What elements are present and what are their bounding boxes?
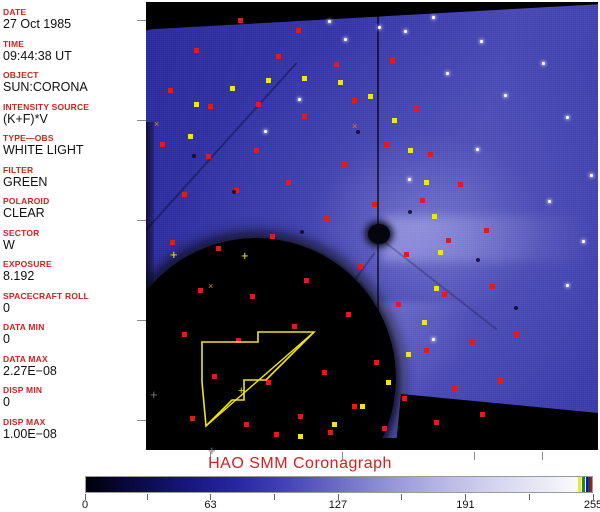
axis-tick-left xyxy=(137,20,146,21)
metadata-field: FILTERGREEN xyxy=(3,165,145,189)
metadata-field: TIME09:44:38 UT xyxy=(3,39,145,63)
metadata-field: DATE27 Oct 1985 xyxy=(3,7,145,31)
metadata-value: 0 xyxy=(3,395,145,409)
colorbar-tick-label: 0 xyxy=(82,499,88,511)
metadata-value: 09:44:38 UT xyxy=(3,49,145,63)
metadata-value: SUN:CORONA xyxy=(3,80,145,94)
colorbar-yellow-band xyxy=(578,477,582,492)
metadata-field: DATA MIN0 xyxy=(3,322,145,346)
metadata-field: DATA MAX2.27E−08 xyxy=(3,354,145,378)
colorbar-green-band xyxy=(582,477,585,492)
metadata-key: SECTOR xyxy=(3,228,145,238)
metadata-key: TYPE—OBS xyxy=(3,133,145,143)
colorbar-tick-label: 127 xyxy=(329,499,347,511)
metadata-key: DISP MIN xyxy=(3,385,145,395)
metadata-value: 1.00E−08 xyxy=(3,427,145,441)
colorbar[interactable] xyxy=(85,476,593,493)
metadata-field: INTENSITY SOURCE(K+F)*V xyxy=(3,102,145,126)
metadata-value: GREEN xyxy=(3,175,145,189)
colorbar-gradient xyxy=(86,477,592,492)
metadata-key: TIME xyxy=(3,39,145,49)
colorbar-red-band xyxy=(590,477,592,492)
colorbar-tick-label: 255 xyxy=(584,499,600,511)
metadata-sidebar: DATE27 Oct 1985TIME09:44:38 UTOBJECTSUN:… xyxy=(0,0,145,452)
metadata-key: INTENSITY SOURCE xyxy=(3,102,145,112)
coronagraph-viewer: DATE27 Oct 1985TIME09:44:38 UTOBJECTSUN:… xyxy=(0,0,600,512)
metadata-key: DATA MIN xyxy=(3,322,145,332)
metadata-key: DISP MAX xyxy=(3,417,145,427)
metadata-field: SECTORW xyxy=(3,228,145,252)
metadata-value: (K+F)*V xyxy=(3,112,145,126)
metadata-key: OBJECT xyxy=(3,70,145,80)
crosshair-marker: + xyxy=(150,388,158,401)
metadata-value: 0 xyxy=(3,332,145,346)
axis-tick-left xyxy=(137,120,146,121)
colorbar-title: HAO SMM Coronagraph xyxy=(0,455,600,473)
metadata-field: SPACECRAFT ROLL0 xyxy=(3,291,145,315)
colorbar-tick-label: 63 xyxy=(204,499,216,511)
metadata-value: 0 xyxy=(3,301,145,315)
metadata-key: EXPOSURE xyxy=(3,259,145,269)
axis-tick-left xyxy=(137,420,146,421)
coronagraph-image[interactable]: ×××++ + xyxy=(146,2,598,450)
metadata-field: DISP MIN0 xyxy=(3,385,145,409)
axis-tick-left xyxy=(137,220,146,221)
metadata-key: DATA MAX xyxy=(3,354,145,364)
overlay-polygon: + xyxy=(146,2,598,450)
svg-text:+: + xyxy=(238,385,244,397)
metadata-field: EXPOSURE8.192 xyxy=(3,259,145,283)
colorbar-tick-label: 191 xyxy=(456,499,474,511)
metadata-value: 8.192 xyxy=(3,269,145,283)
metadata-field: DISP MAX1.00E−08 xyxy=(3,417,145,441)
metadata-key: POLAROID xyxy=(3,196,145,206)
metadata-value: W xyxy=(3,238,145,252)
metadata-value: WHITE LIGHT xyxy=(3,143,145,157)
axis-tick-left xyxy=(137,320,146,321)
metadata-field: POLAROIDCLEAR xyxy=(3,196,145,220)
metadata-value: 27 Oct 1985 xyxy=(3,17,145,31)
colorbar-labels: 063127191255 xyxy=(0,499,600,512)
metadata-field: TYPE—OBSWHITE LIGHT xyxy=(3,133,145,157)
metadata-value: CLEAR xyxy=(3,206,145,220)
metadata-value: 2.27E−08 xyxy=(3,364,145,378)
metadata-field: OBJECTSUN:CORONA xyxy=(3,70,145,94)
metadata-key: SPACECRAFT ROLL xyxy=(3,291,145,301)
metadata-key: FILTER xyxy=(3,165,145,175)
metadata-key: DATE xyxy=(3,7,145,17)
